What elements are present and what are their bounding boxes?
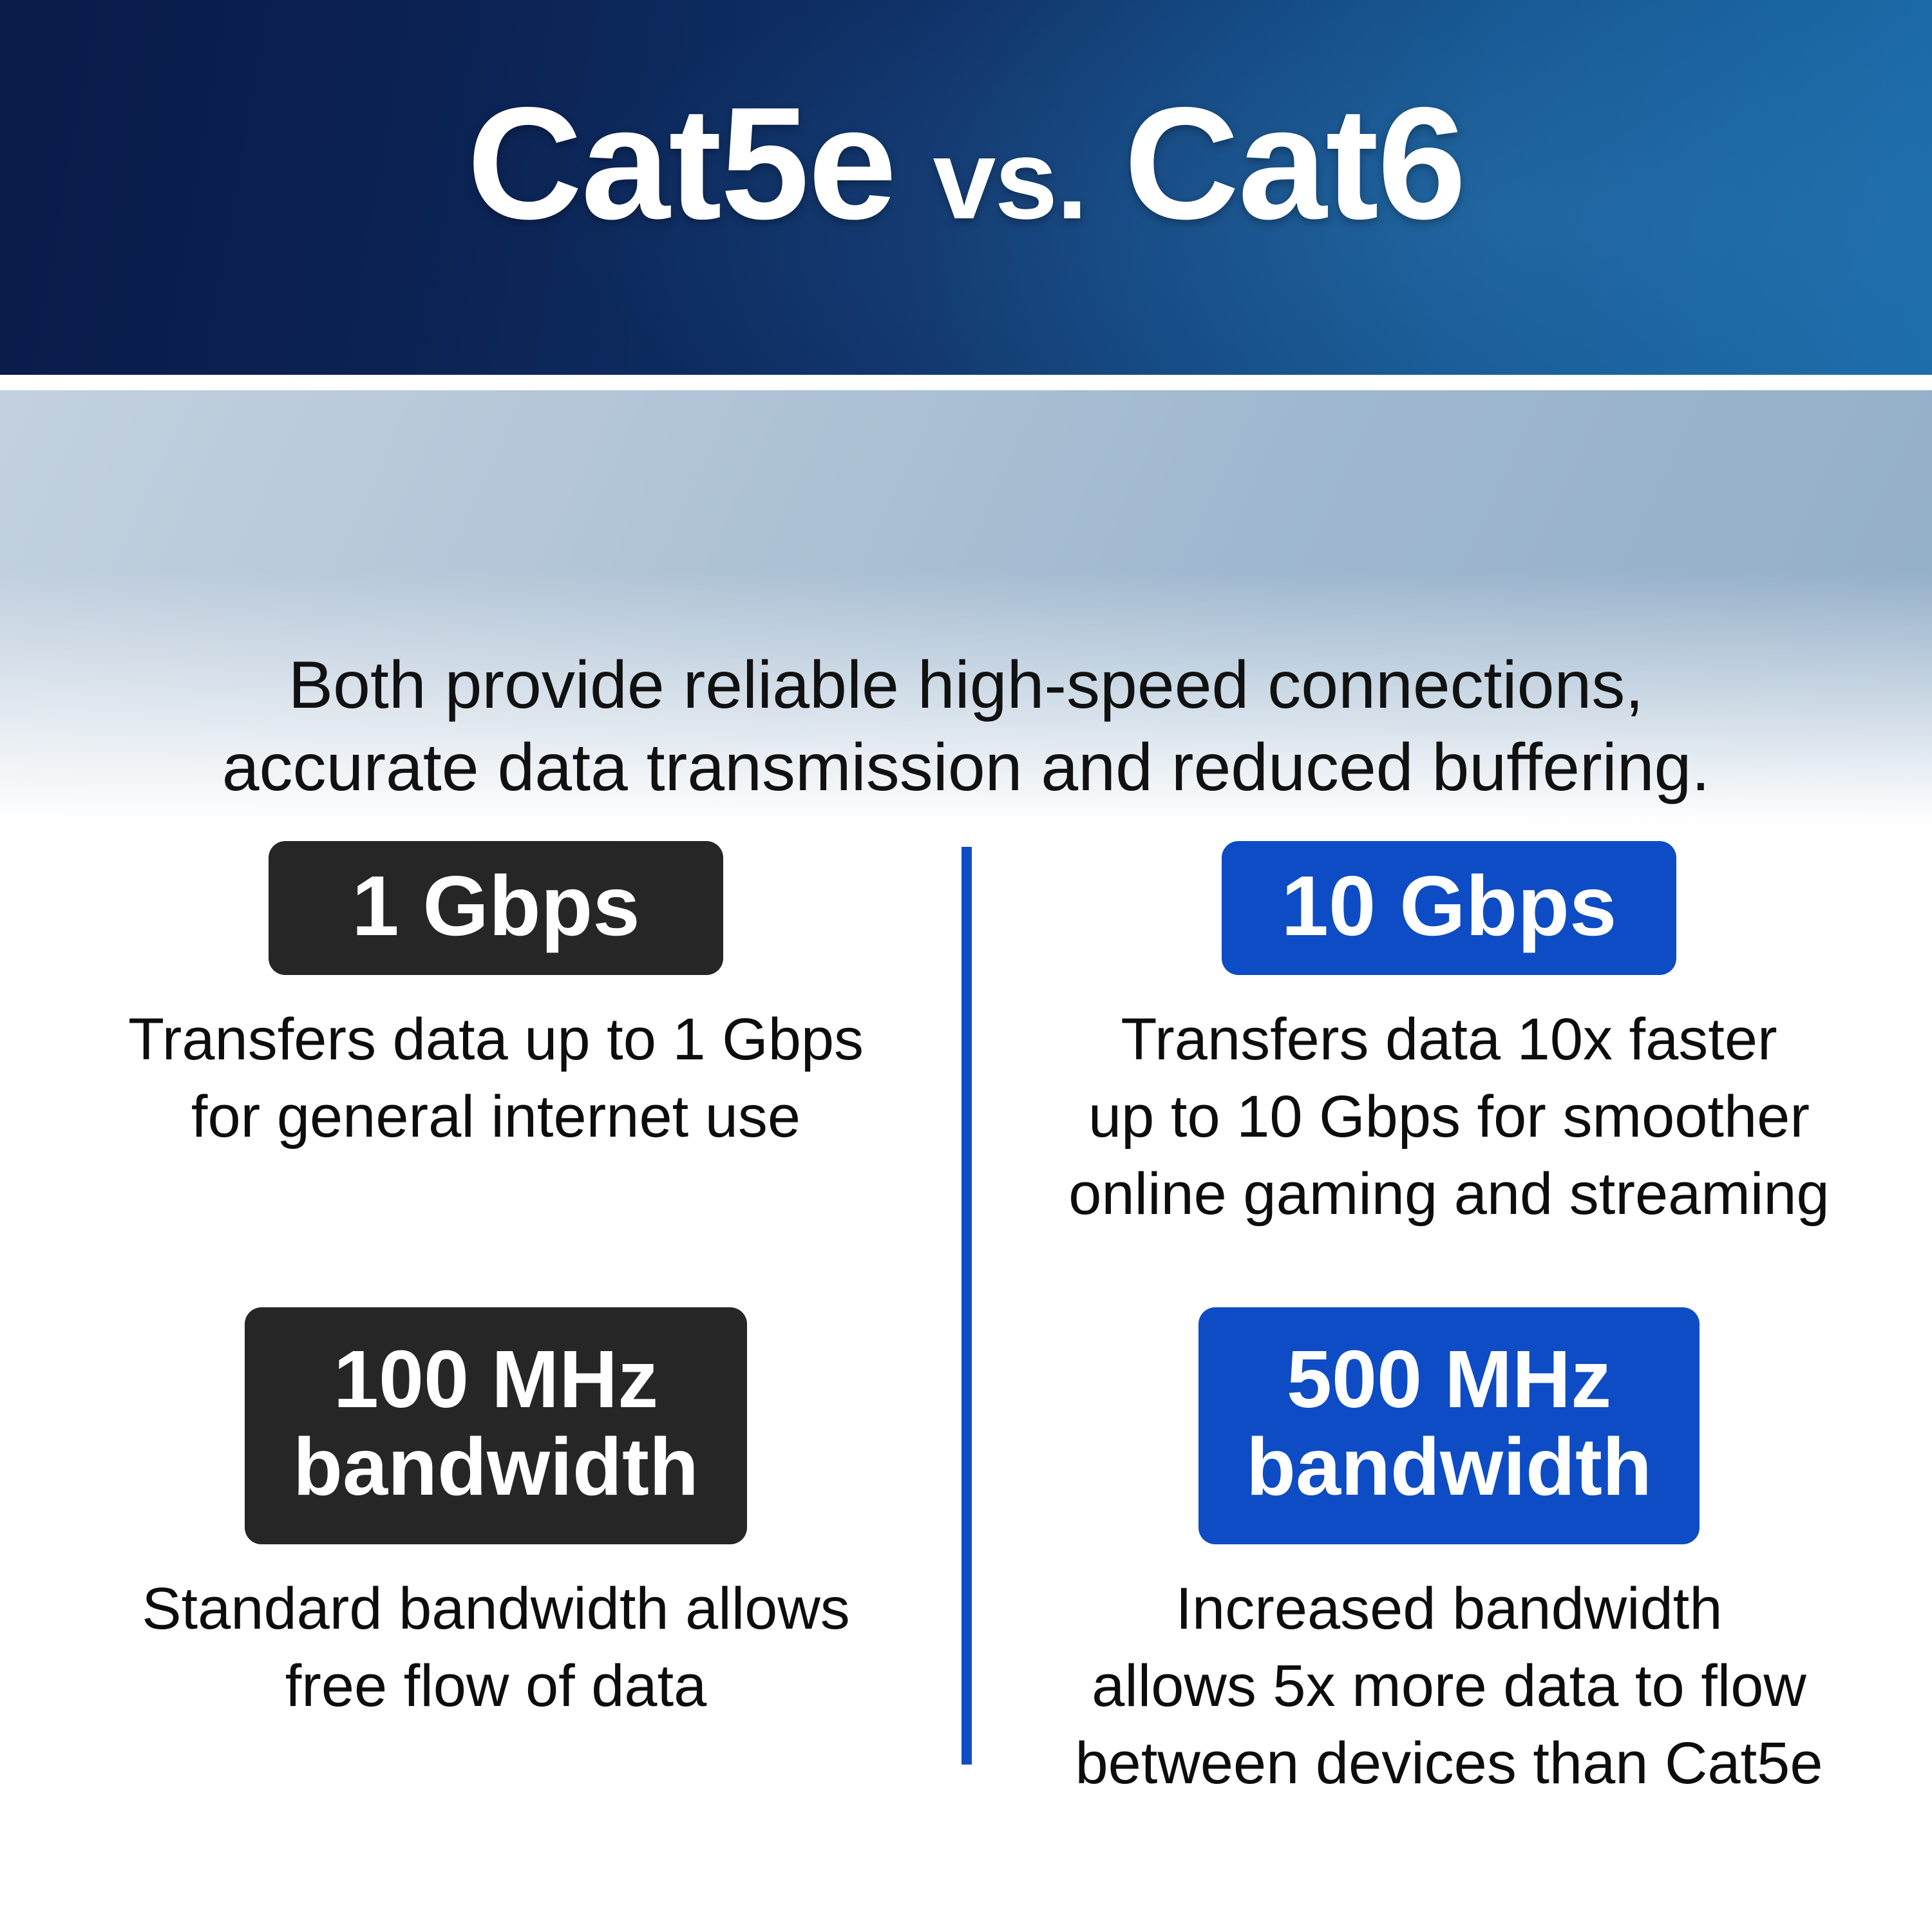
infographic-page: Cat5evs.Cat6 RJ45 — [0, 0, 1932, 1932]
subtitle-line-2: accurate data transmission and reduced b… — [0, 726, 1932, 809]
description-line: online gaming and streaming — [992, 1155, 1906, 1233]
page-title: Cat5evs.Cat6 — [0, 82, 1932, 260]
title-vs: vs. — [933, 117, 1087, 243]
column-cat6: 10 Gbps Transfers data 10x faster up to … — [992, 831, 1906, 1802]
badge-line-2: bandwidth — [1198, 1423, 1700, 1511]
subtitle-line-1: Both provide reliable high-speed connect… — [0, 644, 1932, 726]
description-cat6-speed: Transfers data 10x faster up to 10 Gbps … — [992, 1001, 1906, 1233]
description-line: between devices than Cat5e — [992, 1725, 1906, 1802]
badge-cat5e-speed[interactable]: 1 Gbps — [269, 841, 723, 975]
description-line: free flow of data — [39, 1647, 953, 1725]
title-cat5e: Cat5e — [467, 73, 895, 252]
badge-cat6-bandwidth[interactable]: 500 MHz bandwidth — [1198, 1307, 1700, 1544]
description-line: for general internet use — [39, 1078, 953, 1155]
badge-cat5e-bandwidth[interactable]: 100 MHz bandwidth — [245, 1307, 747, 1544]
badge-line-1: 100 MHz — [245, 1336, 747, 1423]
header-divider-gap — [0, 375, 1932, 390]
title-cat6: Cat6 — [1124, 73, 1465, 252]
description-line: up to 10 Gbps for smoother — [992, 1078, 1906, 1155]
description-cat5e-speed: Transfers data up to 1 Gbps for general … — [39, 1001, 953, 1155]
description-line: Standard bandwidth allows — [39, 1570, 953, 1647]
badge-cat6-speed[interactable]: 10 Gbps — [1222, 841, 1676, 975]
description-line: Transfers data 10x faster — [992, 1001, 1906, 1078]
description-line: Increased bandwidth — [992, 1570, 1906, 1647]
column-cat5e: 1 Gbps Transfers data up to 1 Gbps for g… — [39, 831, 953, 1725]
subtitle: Both provide reliable high-speed connect… — [0, 644, 1932, 809]
badge-line-1: 500 MHz — [1198, 1336, 1700, 1423]
row-cat6-bandwidth: 500 MHz bandwidth Increased bandwidth al… — [992, 1307, 1906, 1802]
description-line: Transfers data up to 1 Gbps — [39, 1001, 953, 1078]
description-line: allows 5x more data to flow — [992, 1647, 1906, 1725]
row-cat5e-bandwidth: 100 MHz bandwidth Standard bandwidth all… — [39, 1307, 953, 1725]
column-divider — [961, 847, 972, 1765]
description-cat5e-bandwidth: Standard bandwidth allows free flow of d… — [39, 1570, 953, 1725]
badge-line-2: bandwidth — [245, 1423, 747, 1511]
description-cat6-bandwidth: Increased bandwidth allows 5x more data … — [992, 1570, 1906, 1802]
